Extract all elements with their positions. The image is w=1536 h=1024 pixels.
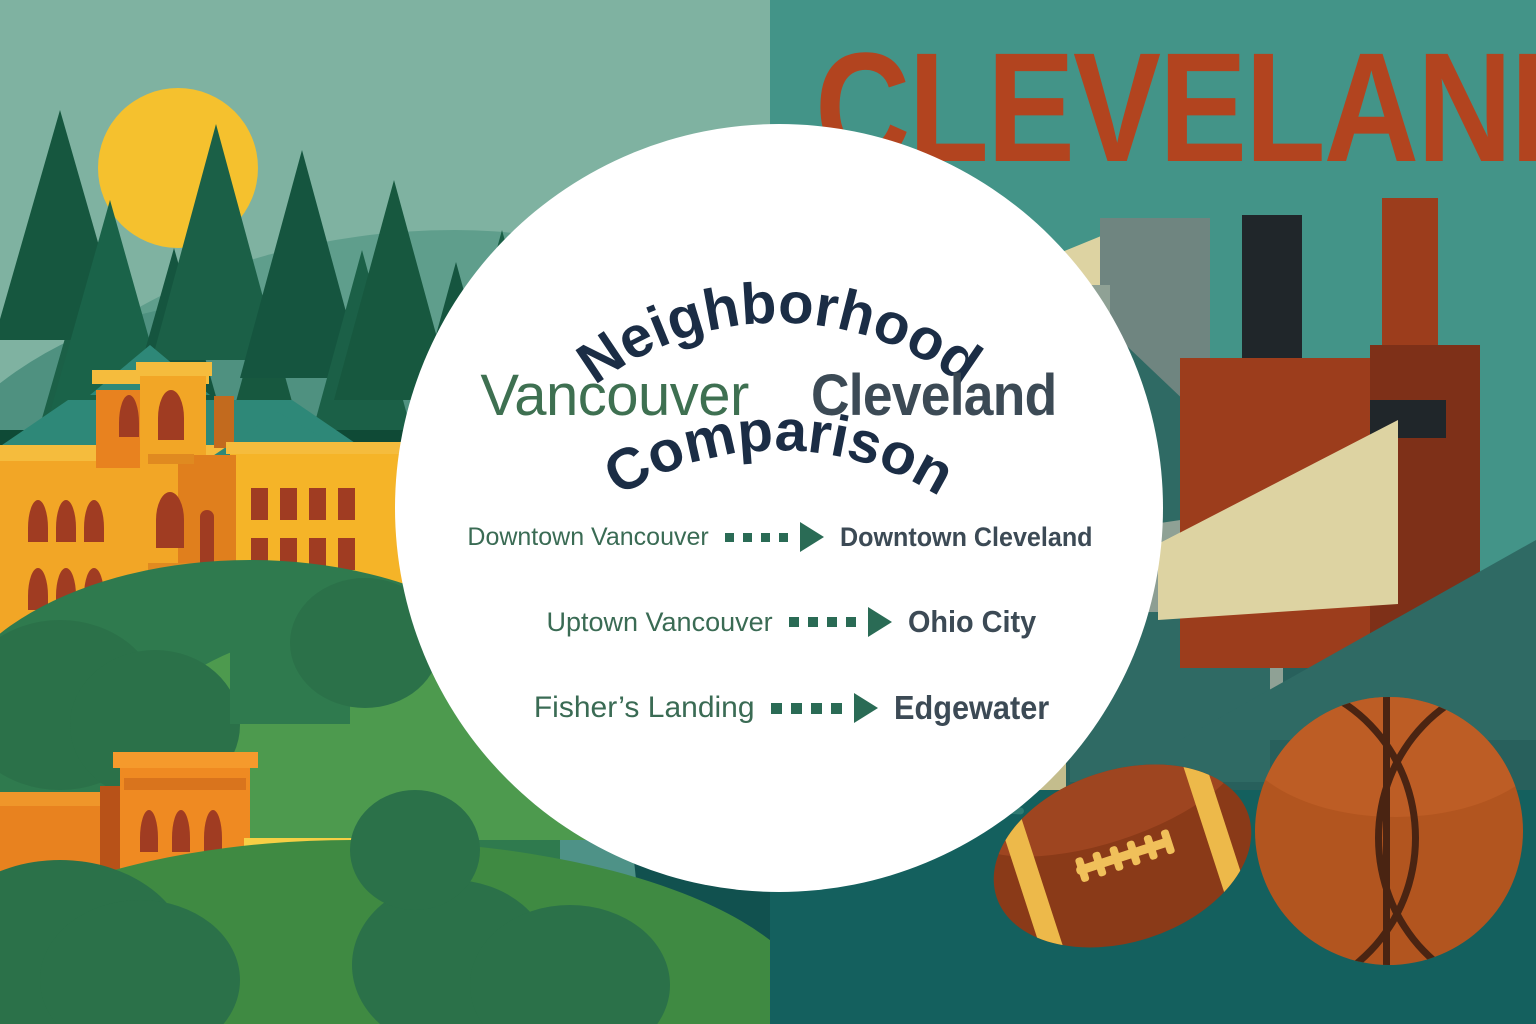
tower-cap (136, 362, 212, 376)
comparison-row: Fisher’s Landing Edgewater (395, 665, 1163, 751)
dash-dot (791, 703, 802, 714)
dash-dot (846, 617, 856, 627)
building-cornice (113, 752, 258, 768)
arrow-connector-icon (771, 693, 878, 723)
window (338, 538, 355, 570)
building-band (124, 778, 246, 790)
row-source-label: Uptown Vancouver (513, 607, 773, 638)
comparison-row: Downtown Vancouver Downtown Cleveland (395, 495, 1163, 579)
comparison-row: Uptown Vancouver Ohio City (395, 579, 1163, 665)
column-header-cleveland: Cleveland (811, 362, 1056, 429)
row-target-label: Edgewater (894, 689, 1049, 727)
dash-dot (743, 533, 752, 542)
dash-dot (827, 617, 837, 627)
dash-dot (725, 533, 734, 542)
arrow-connector-icon (725, 522, 824, 552)
bush-icon (350, 790, 480, 910)
column-header-vancouver: Vancouver (480, 362, 748, 429)
wing-cornice (226, 442, 418, 454)
arrow-head-icon (800, 522, 824, 552)
row-source-label: Downtown Vancouver (447, 523, 709, 552)
window (280, 488, 297, 520)
dash-dot (761, 533, 770, 542)
arrow-head-icon (868, 607, 892, 637)
dash-dot (811, 703, 822, 714)
comparison-rows: Downtown Vancouver Downtown Cleveland Up… (395, 495, 1163, 751)
arrow-head-icon (854, 693, 878, 723)
basketball-icon (1255, 697, 1523, 965)
poster-canvas: CLEVELAND Neighborhood Comparison (0, 0, 1536, 1024)
window (251, 488, 268, 520)
window (158, 390, 184, 440)
window (309, 488, 326, 520)
chimney-icon (214, 396, 234, 448)
tower-band (148, 454, 194, 464)
dash-dot (771, 703, 782, 714)
row-target-label: Downtown Cleveland (840, 522, 1093, 553)
arrow-connector-icon (789, 607, 892, 637)
row-target-label: Ohio City (908, 604, 1036, 640)
row-source-label: Fisher’s Landing (498, 691, 755, 725)
window (156, 492, 184, 548)
dash-dot (779, 533, 788, 542)
dash-dot (808, 617, 818, 627)
badge-column-headers: Vancouver Cleveland (395, 362, 1163, 429)
dash-dot (831, 703, 842, 714)
dash-dot (789, 617, 799, 627)
window (338, 488, 355, 520)
